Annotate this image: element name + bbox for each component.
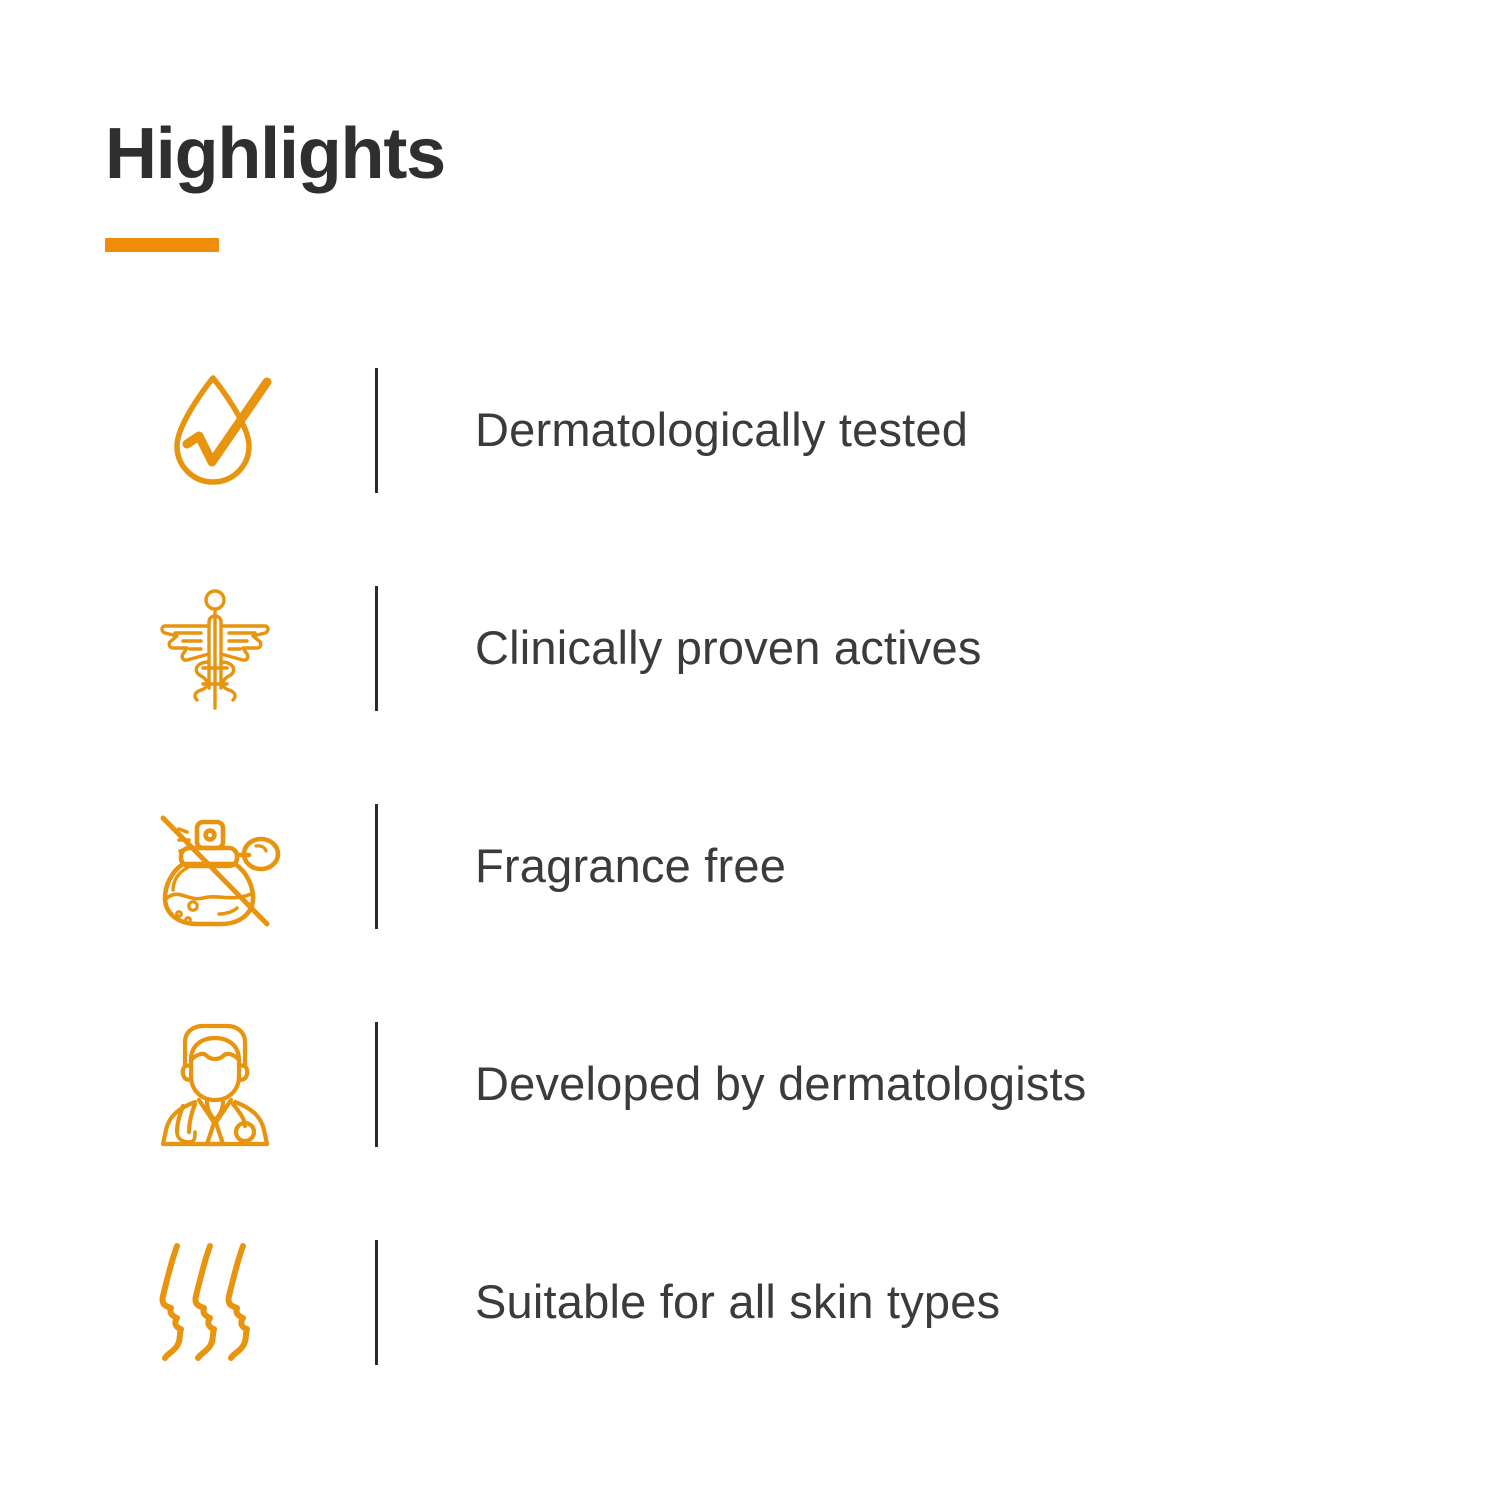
highlight-label: Developed by dermatologists — [475, 1058, 1087, 1111]
highlight-label: Clinically proven actives — [475, 622, 982, 675]
highlights-list: Dermatologically tested — [0, 352, 1500, 1380]
highlight-row: Dermatologically tested — [0, 352, 1500, 508]
highlights-page: Highlights Dermatologically tested — [0, 0, 1500, 1500]
highlight-label-cell: Dermatologically tested — [378, 352, 968, 508]
highlight-row: Developed by dermatologists — [0, 1006, 1500, 1162]
highlight-label-cell: Suitable for all skin types — [378, 1224, 1000, 1380]
highlight-label: Fragrance free — [475, 840, 786, 893]
highlight-row: Suitable for all skin types — [0, 1224, 1500, 1380]
page-title: Highlights — [105, 118, 445, 190]
highlight-row: Fragrance free — [0, 788, 1500, 944]
doctor-icon — [150, 1014, 280, 1154]
highlight-label-cell: Clinically proven actives — [378, 570, 982, 726]
highlight-label: Suitable for all skin types — [475, 1276, 1000, 1329]
highlight-label: Dermatologically tested — [475, 404, 968, 457]
page-header: Highlights — [105, 118, 445, 252]
highlight-label-cell: Developed by dermatologists — [378, 1006, 1087, 1162]
highlight-row: Clinically proven actives — [0, 570, 1500, 726]
no-fragrance-bottle-icon — [150, 796, 280, 936]
droplet-check-icon — [150, 360, 280, 500]
highlight-label-cell: Fragrance free — [378, 788, 786, 944]
caduceus-icon — [150, 578, 280, 718]
three-face-profiles-icon — [150, 1232, 280, 1372]
title-underline-accent — [105, 238, 219, 252]
